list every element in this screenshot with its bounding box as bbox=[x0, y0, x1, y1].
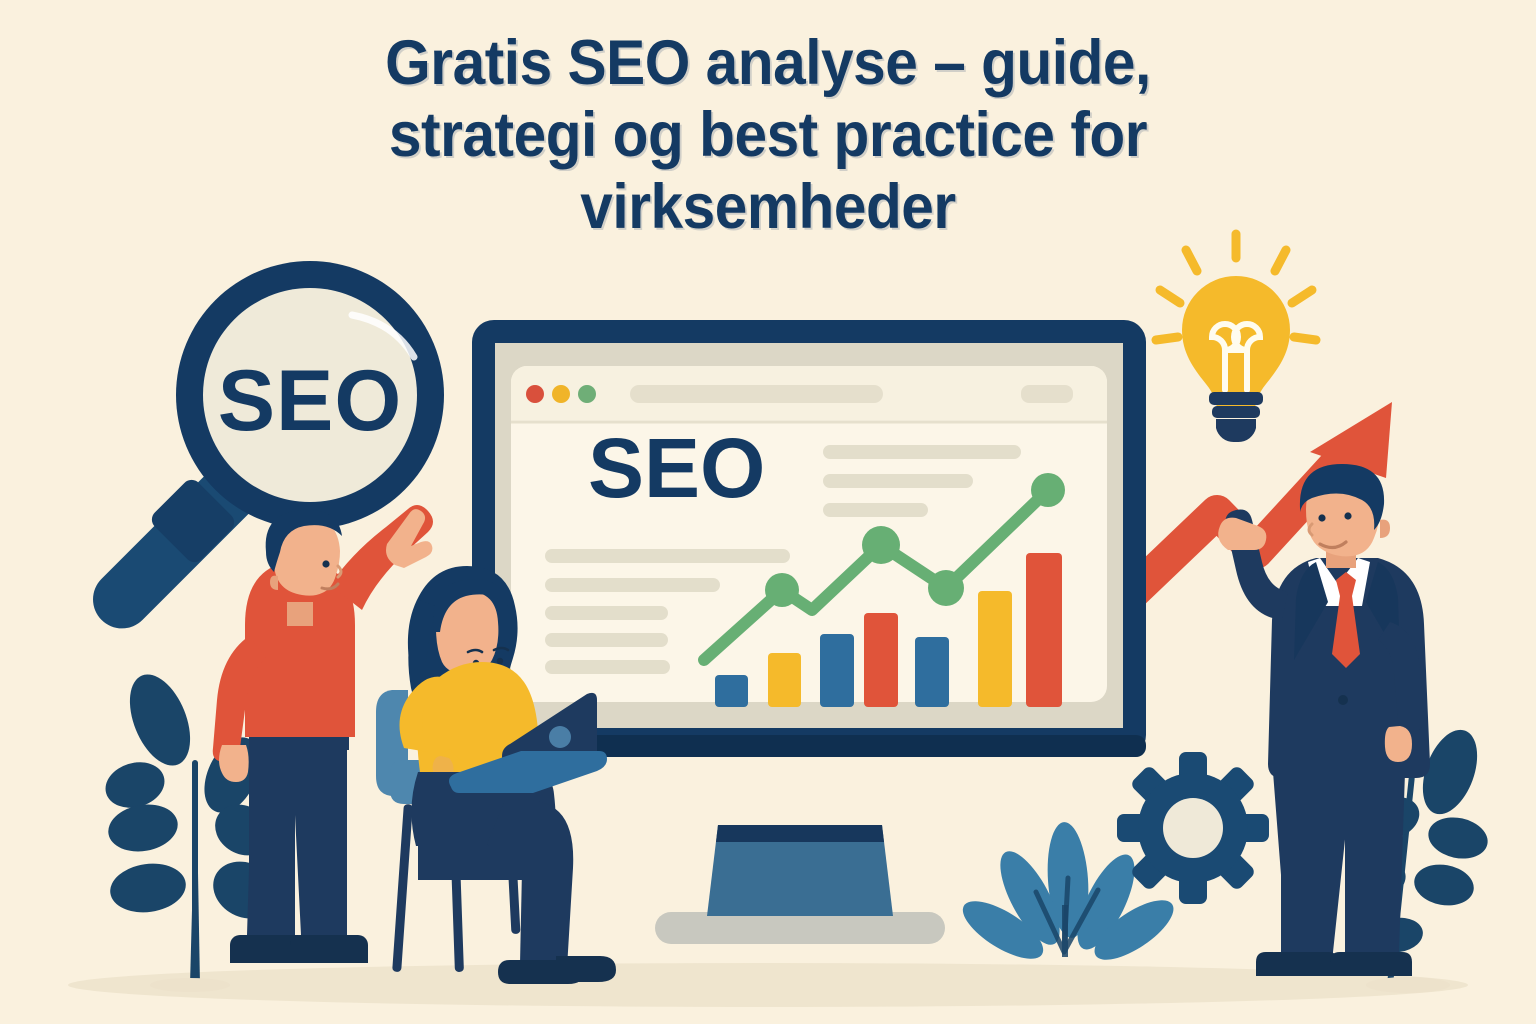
illustration-canvas: SEO bbox=[0, 0, 1536, 1024]
maximize-dot-icon[interactable] bbox=[578, 385, 596, 403]
trend-point bbox=[1031, 473, 1065, 507]
browser-window: SEO bbox=[511, 366, 1107, 707]
chart-bar bbox=[1026, 553, 1062, 707]
magnifier-seo-label: SEO bbox=[218, 353, 403, 449]
address-bar[interactable] bbox=[630, 385, 883, 403]
chart-bar bbox=[978, 591, 1012, 707]
trend-point bbox=[928, 570, 964, 606]
chart-bar bbox=[768, 653, 801, 707]
trend-point bbox=[765, 573, 799, 607]
gear-icon bbox=[1117, 752, 1269, 904]
monitor-base bbox=[655, 912, 945, 944]
minimize-dot-icon[interactable] bbox=[552, 385, 570, 403]
toolbar-button[interactable] bbox=[1021, 385, 1073, 403]
seo-illustration: SEO bbox=[0, 0, 1536, 1024]
chart-bar bbox=[820, 634, 854, 707]
trend-point bbox=[862, 526, 900, 564]
browser-seo-headline: SEO bbox=[588, 421, 765, 515]
chart-bar bbox=[864, 613, 898, 707]
chart-bar bbox=[715, 675, 748, 707]
close-dot-icon[interactable] bbox=[526, 385, 544, 403]
chart-bar bbox=[915, 637, 949, 707]
